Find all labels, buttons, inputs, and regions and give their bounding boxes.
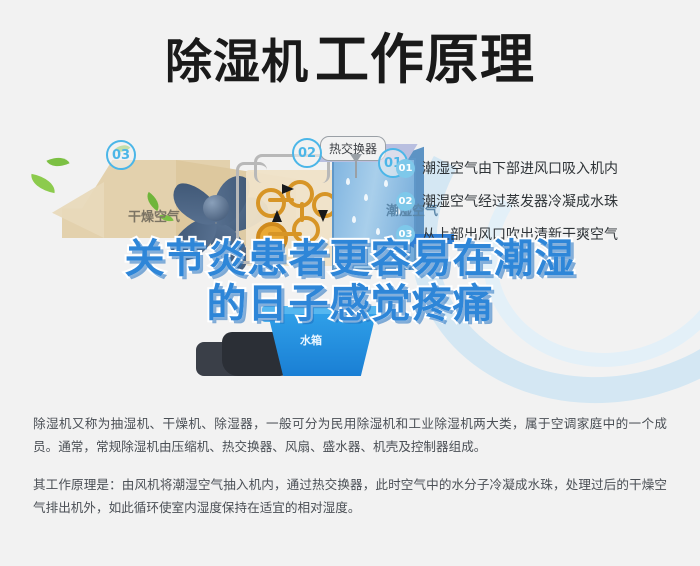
page-title-part2: 工作原理 xyxy=(315,33,535,87)
water-droplet-icon xyxy=(352,216,356,223)
leaf-icon xyxy=(46,152,69,171)
water-droplet-icon xyxy=(376,228,380,235)
arrow-up-icon xyxy=(272,210,282,222)
step-item-03: 03 从上部出风口吹出清新干爽空气 xyxy=(396,224,696,244)
step-item-01: 01 潮湿空气由下部进风口吸入机内 xyxy=(396,158,696,178)
step-item-02: 02 潮湿空气经过蒸发器冷凝成水珠 xyxy=(396,191,696,211)
water-tank-label: 水箱 xyxy=(300,332,322,348)
leaf-icon xyxy=(29,174,57,193)
callout-leader-line xyxy=(355,162,357,178)
coil-connector xyxy=(268,232,302,236)
coil-connector xyxy=(268,198,294,202)
water-droplet-icon xyxy=(340,244,344,251)
water-droplet-icon xyxy=(364,194,368,201)
water-droplet-icon xyxy=(384,180,388,187)
copper-coil-icon xyxy=(256,222,288,254)
water-droplet-icon xyxy=(346,178,350,185)
title-band: 除湿机 工作原理 xyxy=(0,0,700,120)
step-text-01: 潮湿空气由下部进风口吸入机内 xyxy=(422,158,618,178)
coil-connector xyxy=(300,202,304,222)
fan-hub xyxy=(203,195,229,221)
arrow-down-icon xyxy=(318,210,328,222)
page-title: 除湿机 工作原理 xyxy=(165,33,535,87)
copper-coil-icon xyxy=(292,216,320,244)
step-badge-01: 01 xyxy=(396,159,415,178)
body-paragraph-2: 其工作原理是：由风机将潮湿空气抽入机内，通过热交换器，此时空气中的水分子冷凝成水… xyxy=(33,473,667,520)
dry-air-label: 干燥空气 xyxy=(128,206,180,225)
water-tank-icon xyxy=(268,314,376,376)
diagram-badge-02: 02 xyxy=(292,138,322,168)
arrow-right-icon xyxy=(282,184,294,194)
infographic-page: 除湿机 工作原理 xyxy=(0,0,700,566)
body-paragraph-1: 除湿机又称为抽湿机、干燥机、除湿器，一般可分为民用除湿机和工业除湿机两大类，属于… xyxy=(33,412,667,459)
body-copy: 除湿机又称为抽湿机、干燥机、除湿器，一般可分为民用除湿机和工业除湿机两大类，属于… xyxy=(0,412,700,533)
step-badge-03: 03 xyxy=(396,225,415,244)
step-text-03: 从上部出风口吹出清新干爽空气 xyxy=(422,224,618,244)
step-text-02: 潮湿空气经过蒸发器冷凝成水珠 xyxy=(422,191,618,211)
step-list: 01 潮湿空气由下部进风口吸入机内 02 潮湿空气经过蒸发器冷凝成水珠 03 从… xyxy=(396,158,696,257)
page-title-part1: 除湿机 xyxy=(165,39,309,86)
diagram-badge-03: 03 xyxy=(106,140,136,170)
step-badge-02: 02 xyxy=(396,192,415,211)
